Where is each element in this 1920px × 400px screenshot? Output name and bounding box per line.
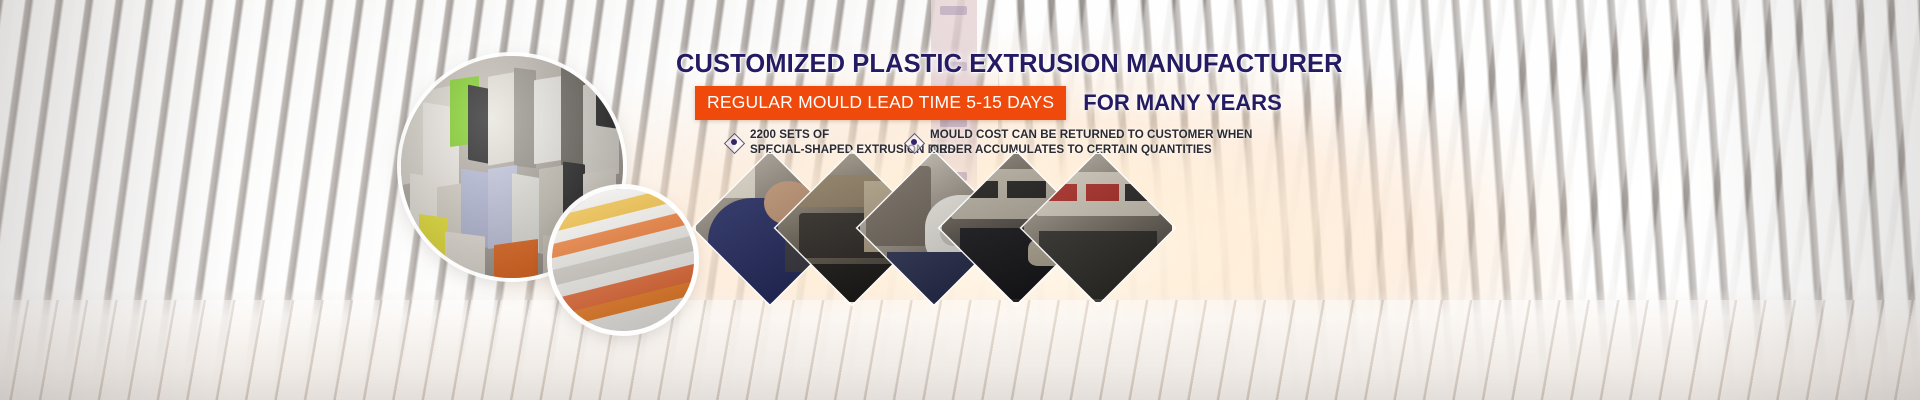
years-label: FOR MANY YEARS [1083,90,1281,116]
diamond-bullet-icon [906,135,921,150]
diamond-photo-5 [1022,152,1175,305]
orange-white-profile-strips-photo [552,189,694,331]
machine-display-photo [1024,154,1172,302]
product-circle-small [552,189,694,331]
feature-line-1: 2200 SETS OF [750,128,829,141]
diamond-bullet-icon [726,135,741,150]
background-floor-lines [0,300,1920,400]
diamond-photo-strip [716,156,1168,300]
lead-time-badge: REGULAR MOULD LEAD TIME 5-15 DAYS [695,86,1066,120]
feature-item-mould-cost: MOULD COST CAN BE RETURNED TO CUSTOMER W… [906,127,1252,157]
promo-banner: CUSTOMIZED PLASTIC EXTRUSION MANUFACTURE… [0,0,1920,400]
feature-text: MOULD COST CAN BE RETURNED TO CUSTOMER W… [930,127,1252,157]
banner-subheadline-row: REGULAR MOULD LEAD TIME 5-15 DAYS FOR MA… [695,86,1282,120]
feature-line-1: MOULD COST CAN BE RETURNED TO CUSTOMER W… [930,128,1252,141]
feature-line-2: ORDER ACCUMULATES TO CERTAIN QUANTITIES [930,143,1212,156]
banner-headline: CUSTOMIZED PLASTIC EXTRUSION MANUFACTURE… [676,50,1343,79]
